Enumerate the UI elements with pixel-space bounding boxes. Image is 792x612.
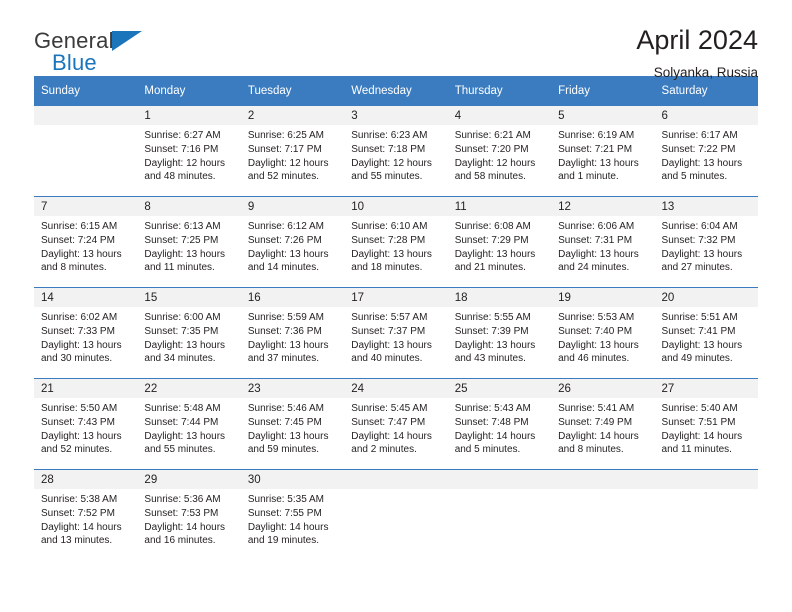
day-number: 14: [34, 288, 137, 307]
day-sun-info: [551, 489, 654, 493]
day-number: 4: [448, 106, 551, 125]
day-number: 17: [344, 288, 447, 307]
day-sun-info: [34, 125, 137, 129]
weekday-header-thursday: Thursday: [448, 76, 551, 106]
calendar-day-cell[interactable]: 1Sunrise: 6:27 AMSunset: 7:16 PMDaylight…: [137, 106, 240, 197]
day-cell-content: 28Sunrise: 5:38 AMSunset: 7:52 PMDayligh…: [34, 470, 137, 560]
day-daylight-line2-text: and 43 minutes.: [455, 352, 545, 366]
calendar-day-cell[interactable]: 4Sunrise: 6:21 AMSunset: 7:20 PMDaylight…: [448, 106, 551, 197]
day-daylight-line2-text: and 46 minutes.: [558, 352, 648, 366]
day-sun-info: Sunrise: 6:27 AMSunset: 7:16 PMDaylight:…: [137, 125, 240, 184]
day-sunset-text: Sunset: 7:39 PM: [455, 325, 545, 339]
calendar-day-cell[interactable]: 19Sunrise: 5:53 AMSunset: 7:40 PMDayligh…: [551, 288, 654, 379]
day-number: 18: [448, 288, 551, 307]
day-sunrise-text: Sunrise: 6:04 AM: [662, 220, 752, 234]
day-daylight-line1-text: Daylight: 13 hours: [662, 339, 752, 353]
calendar-day-cell[interactable]: 15Sunrise: 6:00 AMSunset: 7:35 PMDayligh…: [137, 288, 240, 379]
day-number: 25: [448, 379, 551, 398]
day-daylight-line2-text: and 21 minutes.: [455, 261, 545, 275]
day-cell-content: 4Sunrise: 6:21 AMSunset: 7:20 PMDaylight…: [448, 106, 551, 196]
day-daylight-line1-text: Daylight: 13 hours: [662, 157, 752, 171]
day-number: 8: [137, 197, 240, 216]
day-sun-info: Sunrise: 6:13 AMSunset: 7:25 PMDaylight:…: [137, 216, 240, 275]
day-daylight-line2-text: and 19 minutes.: [248, 534, 338, 548]
day-sunrise-text: Sunrise: 5:55 AM: [455, 311, 545, 325]
day-sunset-text: Sunset: 7:49 PM: [558, 416, 648, 430]
day-sun-info: Sunrise: 5:48 AMSunset: 7:44 PMDaylight:…: [137, 398, 240, 457]
day-number: 21: [34, 379, 137, 398]
calendar-day-cell[interactable]: 18Sunrise: 5:55 AMSunset: 7:39 PMDayligh…: [448, 288, 551, 379]
calendar-day-cell[interactable]: 30Sunrise: 5:35 AMSunset: 7:55 PMDayligh…: [241, 470, 344, 561]
day-sun-info: Sunrise: 5:36 AMSunset: 7:53 PMDaylight:…: [137, 489, 240, 548]
day-sun-info: Sunrise: 6:17 AMSunset: 7:22 PMDaylight:…: [655, 125, 758, 184]
day-number: 13: [655, 197, 758, 216]
day-sun-info: Sunrise: 6:15 AMSunset: 7:24 PMDaylight:…: [34, 216, 137, 275]
calendar-day-cell[interactable]: 17Sunrise: 5:57 AMSunset: 7:37 PMDayligh…: [344, 288, 447, 379]
day-number: [34, 106, 137, 125]
day-sunset-text: Sunset: 7:48 PM: [455, 416, 545, 430]
day-sunrise-text: Sunrise: 5:48 AM: [144, 402, 234, 416]
page-header: General Blue April 2024 Solyanka, Russia: [34, 0, 758, 72]
day-daylight-line2-text: and 11 minutes.: [662, 443, 752, 457]
day-daylight-line2-text: and 52 minutes.: [248, 170, 338, 184]
day-sunrise-text: Sunrise: 5:51 AM: [662, 311, 752, 325]
day-sun-info: Sunrise: 6:12 AMSunset: 7:26 PMDaylight:…: [241, 216, 344, 275]
day-number: 19: [551, 288, 654, 307]
day-daylight-line1-text: Daylight: 13 hours: [41, 248, 131, 262]
day-sun-info: Sunrise: 5:57 AMSunset: 7:37 PMDaylight:…: [344, 307, 447, 366]
day-sunset-text: Sunset: 7:44 PM: [144, 416, 234, 430]
calendar-day-cell[interactable]: 25Sunrise: 5:43 AMSunset: 7:48 PMDayligh…: [448, 379, 551, 470]
day-number: 24: [344, 379, 447, 398]
day-sunset-text: Sunset: 7:22 PM: [662, 143, 752, 157]
day-sunrise-text: Sunrise: 6:06 AM: [558, 220, 648, 234]
day-cell-content: 22Sunrise: 5:48 AMSunset: 7:44 PMDayligh…: [137, 379, 240, 469]
day-daylight-line2-text: and 40 minutes.: [351, 352, 441, 366]
day-daylight-line1-text: Daylight: 13 hours: [455, 339, 545, 353]
day-cell-content: 8Sunrise: 6:13 AMSunset: 7:25 PMDaylight…: [137, 197, 240, 287]
day-daylight-line2-text: and 16 minutes.: [144, 534, 234, 548]
day-sun-info: Sunrise: 5:46 AMSunset: 7:45 PMDaylight:…: [241, 398, 344, 457]
day-daylight-line1-text: Daylight: 14 hours: [558, 430, 648, 444]
day-daylight-line2-text: and 2 minutes.: [351, 443, 441, 457]
day-daylight-line2-text: and 1 minute.: [558, 170, 648, 184]
day-cell-content: 29Sunrise: 5:36 AMSunset: 7:53 PMDayligh…: [137, 470, 240, 560]
day-number: 15: [137, 288, 240, 307]
day-daylight-line1-text: Daylight: 13 hours: [41, 430, 131, 444]
calendar-day-cell: [344, 470, 447, 561]
day-sunset-text: Sunset: 7:32 PM: [662, 234, 752, 248]
calendar-day-cell[interactable]: 6Sunrise: 6:17 AMSunset: 7:22 PMDaylight…: [655, 106, 758, 197]
day-sunset-text: Sunset: 7:41 PM: [662, 325, 752, 339]
calendar-day-cell[interactable]: 14Sunrise: 6:02 AMSunset: 7:33 PMDayligh…: [34, 288, 137, 379]
logo-triangle-icon: [112, 31, 142, 51]
day-sun-info: [448, 489, 551, 493]
calendar-body: 1Sunrise: 6:27 AMSunset: 7:16 PMDaylight…: [34, 106, 758, 560]
day-daylight-line2-text: and 24 minutes.: [558, 261, 648, 275]
day-number: 12: [551, 197, 654, 216]
day-cell-content: 30Sunrise: 5:35 AMSunset: 7:55 PMDayligh…: [241, 470, 344, 560]
day-daylight-line1-text: Daylight: 13 hours: [351, 339, 441, 353]
day-cell-content: 19Sunrise: 5:53 AMSunset: 7:40 PMDayligh…: [551, 288, 654, 378]
day-daylight-line2-text: and 34 minutes.: [144, 352, 234, 366]
day-daylight-line2-text: and 37 minutes.: [248, 352, 338, 366]
day-number: 5: [551, 106, 654, 125]
day-sunset-text: Sunset: 7:29 PM: [455, 234, 545, 248]
day-sun-info: Sunrise: 6:23 AMSunset: 7:18 PMDaylight:…: [344, 125, 447, 184]
day-sunrise-text: Sunrise: 6:02 AM: [41, 311, 131, 325]
day-daylight-line1-text: Daylight: 14 hours: [662, 430, 752, 444]
day-cell-content: 9Sunrise: 6:12 AMSunset: 7:26 PMDaylight…: [241, 197, 344, 287]
day-sun-info: Sunrise: 6:25 AMSunset: 7:17 PMDaylight:…: [241, 125, 344, 184]
day-sun-info: Sunrise: 6:04 AMSunset: 7:32 PMDaylight:…: [655, 216, 758, 275]
logo-text-blue: Blue: [52, 52, 97, 74]
day-sunrise-text: Sunrise: 5:35 AM: [248, 493, 338, 507]
day-sun-info: Sunrise: 5:35 AMSunset: 7:55 PMDaylight:…: [241, 489, 344, 548]
day-sunset-text: Sunset: 7:18 PM: [351, 143, 441, 157]
day-number: 16: [241, 288, 344, 307]
calendar-day-cell[interactable]: 16Sunrise: 5:59 AMSunset: 7:36 PMDayligh…: [241, 288, 344, 379]
day-sunrise-text: Sunrise: 5:40 AM: [662, 402, 752, 416]
day-sunset-text: Sunset: 7:24 PM: [41, 234, 131, 248]
weekday-header-friday: Friday: [551, 76, 654, 106]
day-sunset-text: Sunset: 7:20 PM: [455, 143, 545, 157]
day-cell-content: [344, 470, 447, 560]
day-number: 29: [137, 470, 240, 489]
day-daylight-line1-text: Daylight: 12 hours: [455, 157, 545, 171]
day-sunrise-text: Sunrise: 5:41 AM: [558, 402, 648, 416]
day-sunrise-text: Sunrise: 6:13 AM: [144, 220, 234, 234]
day-sunset-text: Sunset: 7:16 PM: [144, 143, 234, 157]
day-sunset-text: Sunset: 7:33 PM: [41, 325, 131, 339]
day-sunset-text: Sunset: 7:35 PM: [144, 325, 234, 339]
day-cell-content: 17Sunrise: 5:57 AMSunset: 7:37 PMDayligh…: [344, 288, 447, 378]
day-daylight-line1-text: Daylight: 13 hours: [248, 339, 338, 353]
day-daylight-line2-text: and 5 minutes.: [455, 443, 545, 457]
calendar-day-cell[interactable]: 26Sunrise: 5:41 AMSunset: 7:49 PMDayligh…: [551, 379, 654, 470]
general-blue-logo[interactable]: General Blue: [34, 26, 154, 78]
day-sunset-text: Sunset: 7:52 PM: [41, 507, 131, 521]
day-number: 2: [241, 106, 344, 125]
day-sunset-text: Sunset: 7:43 PM: [41, 416, 131, 430]
day-daylight-line1-text: Daylight: 12 hours: [248, 157, 338, 171]
day-number: 3: [344, 106, 447, 125]
day-daylight-line2-text: and 11 minutes.: [144, 261, 234, 275]
day-cell-content: 25Sunrise: 5:43 AMSunset: 7:48 PMDayligh…: [448, 379, 551, 469]
calendar-day-cell[interactable]: 10Sunrise: 6:10 AMSunset: 7:28 PMDayligh…: [344, 197, 447, 288]
day-daylight-line1-text: Daylight: 13 hours: [144, 339, 234, 353]
day-sunrise-text: Sunrise: 6:23 AM: [351, 129, 441, 143]
title-block: April 2024 Solyanka, Russia: [636, 26, 758, 80]
day-cell-content: 1Sunrise: 6:27 AMSunset: 7:16 PMDaylight…: [137, 106, 240, 196]
day-sun-info: Sunrise: 5:38 AMSunset: 7:52 PMDaylight:…: [34, 489, 137, 548]
day-sunrise-text: Sunrise: 5:50 AM: [41, 402, 131, 416]
day-sunset-text: Sunset: 7:21 PM: [558, 143, 648, 157]
day-cell-content: 18Sunrise: 5:55 AMSunset: 7:39 PMDayligh…: [448, 288, 551, 378]
day-daylight-line1-text: Daylight: 13 hours: [558, 248, 648, 262]
day-number: 10: [344, 197, 447, 216]
day-sun-info: Sunrise: 5:59 AMSunset: 7:36 PMDaylight:…: [241, 307, 344, 366]
day-sun-info: Sunrise: 6:21 AMSunset: 7:20 PMDaylight:…: [448, 125, 551, 184]
day-sunrise-text: Sunrise: 6:10 AM: [351, 220, 441, 234]
day-number: 27: [655, 379, 758, 398]
day-number: 30: [241, 470, 344, 489]
day-sunrise-text: Sunrise: 6:17 AM: [662, 129, 752, 143]
day-cell-content: [551, 470, 654, 560]
day-daylight-line1-text: Daylight: 14 hours: [144, 521, 234, 535]
day-number: 9: [241, 197, 344, 216]
day-number: 6: [655, 106, 758, 125]
day-sun-info: Sunrise: 6:06 AMSunset: 7:31 PMDaylight:…: [551, 216, 654, 275]
day-sunset-text: Sunset: 7:37 PM: [351, 325, 441, 339]
day-sun-info: Sunrise: 5:50 AMSunset: 7:43 PMDaylight:…: [34, 398, 137, 457]
day-cell-content: [34, 106, 137, 196]
calendar-page: General Blue April 2024 Solyanka, Russia…: [0, 0, 792, 612]
day-daylight-line1-text: Daylight: 13 hours: [144, 248, 234, 262]
day-sun-info: [655, 489, 758, 493]
day-daylight-line1-text: Daylight: 13 hours: [144, 430, 234, 444]
day-daylight-line1-text: Daylight: 13 hours: [248, 248, 338, 262]
day-cell-content: 16Sunrise: 5:59 AMSunset: 7:36 PMDayligh…: [241, 288, 344, 378]
day-daylight-line2-text: and 30 minutes.: [41, 352, 131, 366]
month-calendar-table: Sunday Monday Tuesday Wednesday Thursday…: [34, 76, 758, 560]
day-daylight-line1-text: Daylight: 13 hours: [455, 248, 545, 262]
day-sunset-text: Sunset: 7:55 PM: [248, 507, 338, 521]
calendar-day-cell[interactable]: 11Sunrise: 6:08 AMSunset: 7:29 PMDayligh…: [448, 197, 551, 288]
day-sun-info: Sunrise: 5:51 AMSunset: 7:41 PMDaylight:…: [655, 307, 758, 366]
day-cell-content: 7Sunrise: 6:15 AMSunset: 7:24 PMDaylight…: [34, 197, 137, 287]
day-number: 23: [241, 379, 344, 398]
day-cell-content: [655, 470, 758, 560]
day-daylight-line2-text: and 49 minutes.: [662, 352, 752, 366]
day-sunset-text: Sunset: 7:47 PM: [351, 416, 441, 430]
day-cell-content: 27Sunrise: 5:40 AMSunset: 7:51 PMDayligh…: [655, 379, 758, 469]
calendar-day-cell[interactable]: 3Sunrise: 6:23 AMSunset: 7:18 PMDaylight…: [344, 106, 447, 197]
calendar-day-cell[interactable]: 8Sunrise: 6:13 AMSunset: 7:25 PMDaylight…: [137, 197, 240, 288]
day-sunset-text: Sunset: 7:53 PM: [144, 507, 234, 521]
day-cell-content: 6Sunrise: 6:17 AMSunset: 7:22 PMDaylight…: [655, 106, 758, 196]
day-number: [344, 470, 447, 489]
day-number: 11: [448, 197, 551, 216]
day-number: 26: [551, 379, 654, 398]
calendar-day-cell[interactable]: 2Sunrise: 6:25 AMSunset: 7:17 PMDaylight…: [241, 106, 344, 197]
day-sunrise-text: Sunrise: 5:46 AM: [248, 402, 338, 416]
calendar-week-row: 14Sunrise: 6:02 AMSunset: 7:33 PMDayligh…: [34, 288, 758, 379]
weekday-header-wednesday: Wednesday: [344, 76, 447, 106]
day-number: 20: [655, 288, 758, 307]
day-sunrise-text: Sunrise: 5:45 AM: [351, 402, 441, 416]
day-daylight-line2-text: and 18 minutes.: [351, 261, 441, 275]
weekday-header-monday: Monday: [137, 76, 240, 106]
day-daylight-line2-text: and 59 minutes.: [248, 443, 338, 457]
day-sun-info: Sunrise: 6:02 AMSunset: 7:33 PMDaylight:…: [34, 307, 137, 366]
day-cell-content: 14Sunrise: 6:02 AMSunset: 7:33 PMDayligh…: [34, 288, 137, 378]
day-sunrise-text: Sunrise: 6:00 AM: [144, 311, 234, 325]
calendar-day-cell: [448, 470, 551, 561]
day-sunset-text: Sunset: 7:17 PM: [248, 143, 338, 157]
day-sunrise-text: Sunrise: 6:12 AM: [248, 220, 338, 234]
calendar-day-cell: [551, 470, 654, 561]
day-daylight-line2-text: and 55 minutes.: [351, 170, 441, 184]
day-cell-content: 20Sunrise: 5:51 AMSunset: 7:41 PMDayligh…: [655, 288, 758, 378]
day-sunrise-text: Sunrise: 6:08 AM: [455, 220, 545, 234]
calendar-day-cell[interactable]: 21Sunrise: 5:50 AMSunset: 7:43 PMDayligh…: [34, 379, 137, 470]
day-sunrise-text: Sunrise: 5:43 AM: [455, 402, 545, 416]
calendar-day-cell[interactable]: 12Sunrise: 6:06 AMSunset: 7:31 PMDayligh…: [551, 197, 654, 288]
day-number: [448, 470, 551, 489]
calendar-day-cell[interactable]: 24Sunrise: 5:45 AMSunset: 7:47 PMDayligh…: [344, 379, 447, 470]
day-daylight-line1-text: Daylight: 13 hours: [558, 339, 648, 353]
day-sunset-text: Sunset: 7:25 PM: [144, 234, 234, 248]
day-cell-content: 24Sunrise: 5:45 AMSunset: 7:47 PMDayligh…: [344, 379, 447, 469]
calendar-day-cell[interactable]: 22Sunrise: 5:48 AMSunset: 7:44 PMDayligh…: [137, 379, 240, 470]
day-sunrise-text: Sunrise: 6:15 AM: [41, 220, 131, 234]
day-daylight-line2-text: and 14 minutes.: [248, 261, 338, 275]
day-sunset-text: Sunset: 7:51 PM: [662, 416, 752, 430]
calendar-day-cell: [655, 470, 758, 561]
day-sun-info: Sunrise: 5:40 AMSunset: 7:51 PMDaylight:…: [655, 398, 758, 457]
day-sunrise-text: Sunrise: 5:38 AM: [41, 493, 131, 507]
day-sunset-text: Sunset: 7:36 PM: [248, 325, 338, 339]
day-sunset-text: Sunset: 7:45 PM: [248, 416, 338, 430]
day-daylight-line1-text: Daylight: 12 hours: [351, 157, 441, 171]
day-sun-info: [344, 489, 447, 493]
calendar-week-row: 28Sunrise: 5:38 AMSunset: 7:52 PMDayligh…: [34, 470, 758, 561]
calendar-day-cell[interactable]: 27Sunrise: 5:40 AMSunset: 7:51 PMDayligh…: [655, 379, 758, 470]
day-sunrise-text: Sunrise: 5:53 AM: [558, 311, 648, 325]
calendar-day-cell[interactable]: 29Sunrise: 5:36 AMSunset: 7:53 PMDayligh…: [137, 470, 240, 561]
day-daylight-line1-text: Daylight: 14 hours: [455, 430, 545, 444]
day-daylight-line1-text: Daylight: 13 hours: [662, 248, 752, 262]
day-sun-info: Sunrise: 6:19 AMSunset: 7:21 PMDaylight:…: [551, 125, 654, 184]
day-sunset-text: Sunset: 7:26 PM: [248, 234, 338, 248]
day-cell-content: 21Sunrise: 5:50 AMSunset: 7:43 PMDayligh…: [34, 379, 137, 469]
calendar-day-cell[interactable]: 5Sunrise: 6:19 AMSunset: 7:21 PMDaylight…: [551, 106, 654, 197]
day-daylight-line2-text: and 58 minutes.: [455, 170, 545, 184]
day-sunrise-text: Sunrise: 5:57 AM: [351, 311, 441, 325]
weekday-header-sunday: Sunday: [34, 76, 137, 106]
day-sun-info: Sunrise: 5:55 AMSunset: 7:39 PMDaylight:…: [448, 307, 551, 366]
day-daylight-line1-text: Daylight: 14 hours: [351, 430, 441, 444]
page-title: April 2024: [636, 26, 758, 56]
day-sun-info: Sunrise: 6:08 AMSunset: 7:29 PMDaylight:…: [448, 216, 551, 275]
calendar-week-row: 1Sunrise: 6:27 AMSunset: 7:16 PMDaylight…: [34, 106, 758, 197]
calendar-day-cell[interactable]: 28Sunrise: 5:38 AMSunset: 7:52 PMDayligh…: [34, 470, 137, 561]
day-daylight-line2-text: and 48 minutes.: [144, 170, 234, 184]
day-sunrise-text: Sunrise: 5:36 AM: [144, 493, 234, 507]
day-sun-info: Sunrise: 5:45 AMSunset: 7:47 PMDaylight:…: [344, 398, 447, 457]
calendar-day-cell[interactable]: 20Sunrise: 5:51 AMSunset: 7:41 PMDayligh…: [655, 288, 758, 379]
day-sun-info: Sunrise: 5:41 AMSunset: 7:49 PMDaylight:…: [551, 398, 654, 457]
day-cell-content: 10Sunrise: 6:10 AMSunset: 7:28 PMDayligh…: [344, 197, 447, 287]
day-sunset-text: Sunset: 7:40 PM: [558, 325, 648, 339]
calendar-week-row: 7Sunrise: 6:15 AMSunset: 7:24 PMDaylight…: [34, 197, 758, 288]
day-daylight-line2-text: and 52 minutes.: [41, 443, 131, 457]
day-daylight-line2-text: and 55 minutes.: [144, 443, 234, 457]
day-number: 22: [137, 379, 240, 398]
day-sunrise-text: Sunrise: 6:19 AM: [558, 129, 648, 143]
day-cell-content: 11Sunrise: 6:08 AMSunset: 7:29 PMDayligh…: [448, 197, 551, 287]
calendar-day-cell: [34, 106, 137, 197]
calendar-day-cell[interactable]: 23Sunrise: 5:46 AMSunset: 7:45 PMDayligh…: [241, 379, 344, 470]
day-daylight-line2-text: and 8 minutes.: [41, 261, 131, 275]
day-cell-content: 26Sunrise: 5:41 AMSunset: 7:49 PMDayligh…: [551, 379, 654, 469]
day-daylight-line2-text: and 13 minutes.: [41, 534, 131, 548]
day-daylight-line2-text: and 5 minutes.: [662, 170, 752, 184]
day-number: 7: [34, 197, 137, 216]
day-sun-info: Sunrise: 6:00 AMSunset: 7:35 PMDaylight:…: [137, 307, 240, 366]
day-sunset-text: Sunset: 7:28 PM: [351, 234, 441, 248]
calendar-week-row: 21Sunrise: 5:50 AMSunset: 7:43 PMDayligh…: [34, 379, 758, 470]
day-number: [551, 470, 654, 489]
day-sunset-text: Sunset: 7:31 PM: [558, 234, 648, 248]
day-cell-content: 15Sunrise: 6:00 AMSunset: 7:35 PMDayligh…: [137, 288, 240, 378]
day-cell-content: [448, 470, 551, 560]
calendar-header-row: Sunday Monday Tuesday Wednesday Thursday…: [34, 76, 758, 106]
day-daylight-line2-text: and 27 minutes.: [662, 261, 752, 275]
day-cell-content: 3Sunrise: 6:23 AMSunset: 7:18 PMDaylight…: [344, 106, 447, 196]
day-cell-content: 5Sunrise: 6:19 AMSunset: 7:21 PMDaylight…: [551, 106, 654, 196]
calendar-day-cell[interactable]: 7Sunrise: 6:15 AMSunset: 7:24 PMDaylight…: [34, 197, 137, 288]
calendar-day-cell[interactable]: 13Sunrise: 6:04 AMSunset: 7:32 PMDayligh…: [655, 197, 758, 288]
day-daylight-line1-text: Daylight: 12 hours: [144, 157, 234, 171]
day-number: 28: [34, 470, 137, 489]
day-daylight-line1-text: Daylight: 13 hours: [351, 248, 441, 262]
day-sunrise-text: Sunrise: 5:59 AM: [248, 311, 338, 325]
day-number: 1: [137, 106, 240, 125]
day-daylight-line1-text: Daylight: 14 hours: [248, 521, 338, 535]
day-daylight-line1-text: Daylight: 13 hours: [41, 339, 131, 353]
day-sun-info: Sunrise: 6:10 AMSunset: 7:28 PMDaylight:…: [344, 216, 447, 275]
day-cell-content: 12Sunrise: 6:06 AMSunset: 7:31 PMDayligh…: [551, 197, 654, 287]
day-cell-content: 2Sunrise: 6:25 AMSunset: 7:17 PMDaylight…: [241, 106, 344, 196]
location-subtitle: Solyanka, Russia: [636, 65, 758, 80]
day-sun-info: Sunrise: 5:53 AMSunset: 7:40 PMDaylight:…: [551, 307, 654, 366]
day-cell-content: 13Sunrise: 6:04 AMSunset: 7:32 PMDayligh…: [655, 197, 758, 287]
day-number: [655, 470, 758, 489]
day-daylight-line1-text: Daylight: 13 hours: [558, 157, 648, 171]
day-cell-content: 23Sunrise: 5:46 AMSunset: 7:45 PMDayligh…: [241, 379, 344, 469]
day-daylight-line1-text: Daylight: 13 hours: [248, 430, 338, 444]
day-sun-info: Sunrise: 5:43 AMSunset: 7:48 PMDaylight:…: [448, 398, 551, 457]
day-sunrise-text: Sunrise: 6:21 AM: [455, 129, 545, 143]
weekday-header-saturday: Saturday: [655, 76, 758, 106]
day-daylight-line1-text: Daylight: 14 hours: [41, 521, 131, 535]
day-sunrise-text: Sunrise: 6:27 AM: [144, 129, 234, 143]
day-daylight-line2-text: and 8 minutes.: [558, 443, 648, 457]
calendar-day-cell[interactable]: 9Sunrise: 6:12 AMSunset: 7:26 PMDaylight…: [241, 197, 344, 288]
weekday-header-tuesday: Tuesday: [241, 76, 344, 106]
logo-text-general: General: [34, 30, 114, 52]
day-sunrise-text: Sunrise: 6:25 AM: [248, 129, 338, 143]
